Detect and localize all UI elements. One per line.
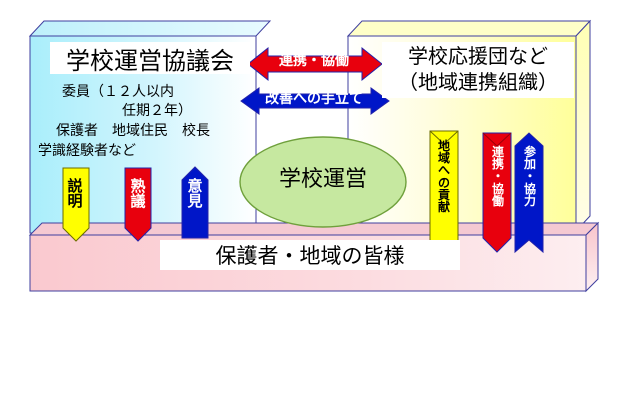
arrow-label-char: 議 xyxy=(126,194,150,209)
left-panel-detail-line-2: 任期２年） xyxy=(122,104,192,119)
arrow-label-char: ・ xyxy=(519,170,541,182)
arrow-renkei-kyodo-vertical-label: 連携・協働 xyxy=(487,146,509,207)
arrow-label-char: 明 xyxy=(63,194,87,209)
arrow-label-char: 見 xyxy=(183,194,207,209)
arrow-jukugi-label: 熟議 xyxy=(126,179,150,210)
right-panel-heading-line-2: （地域連携組織） xyxy=(398,70,558,96)
left-panel-detail-line-1: 委員（１２人以内 xyxy=(62,85,174,100)
arrow-label-char: 献 xyxy=(433,201,455,213)
diagram-canvas: 学校運営協議会 委員（１２人以内 任期２年） 保護者 地域住民 校長 学識経験者… xyxy=(0,0,635,411)
arrow-label-char: ・ xyxy=(487,170,509,182)
left-panel-heading: 学校運営協議会 xyxy=(50,42,250,74)
arrow-label-char: へ xyxy=(433,164,455,176)
arrow-chiiki-heno-kouken-label: 地域への貢献 xyxy=(433,140,455,213)
arrow-label-char: 働 xyxy=(487,195,509,207)
arrow-label-char: 力 xyxy=(519,195,541,207)
right-panel-heading-line-1: 学校応援団など xyxy=(408,44,548,70)
arrow-kaizen-tedate-horizontal-label: 改善への手立て xyxy=(246,88,382,108)
arrow-iken-label: 意見 xyxy=(183,179,207,210)
left-panel-detail-line-4: 学識経験者など xyxy=(38,144,136,159)
bottom-panel-heading: 保護者・地域の皆様 xyxy=(160,240,460,270)
arrow-renkei-kyodo-horizontal-label: 連携・協働 xyxy=(252,50,376,70)
right-panel-heading: 学校応援団など （地域連携組織） xyxy=(382,42,574,98)
school-management-ellipse-label: 学校運営 xyxy=(258,168,388,191)
left-panel-detail-line-3: 保護者 地域住民 校長 xyxy=(56,124,210,139)
arrow-setsumei-label: 説明 xyxy=(63,179,87,210)
arrow-sanka-kyoryoku-label: 参加・協力 xyxy=(519,146,541,207)
